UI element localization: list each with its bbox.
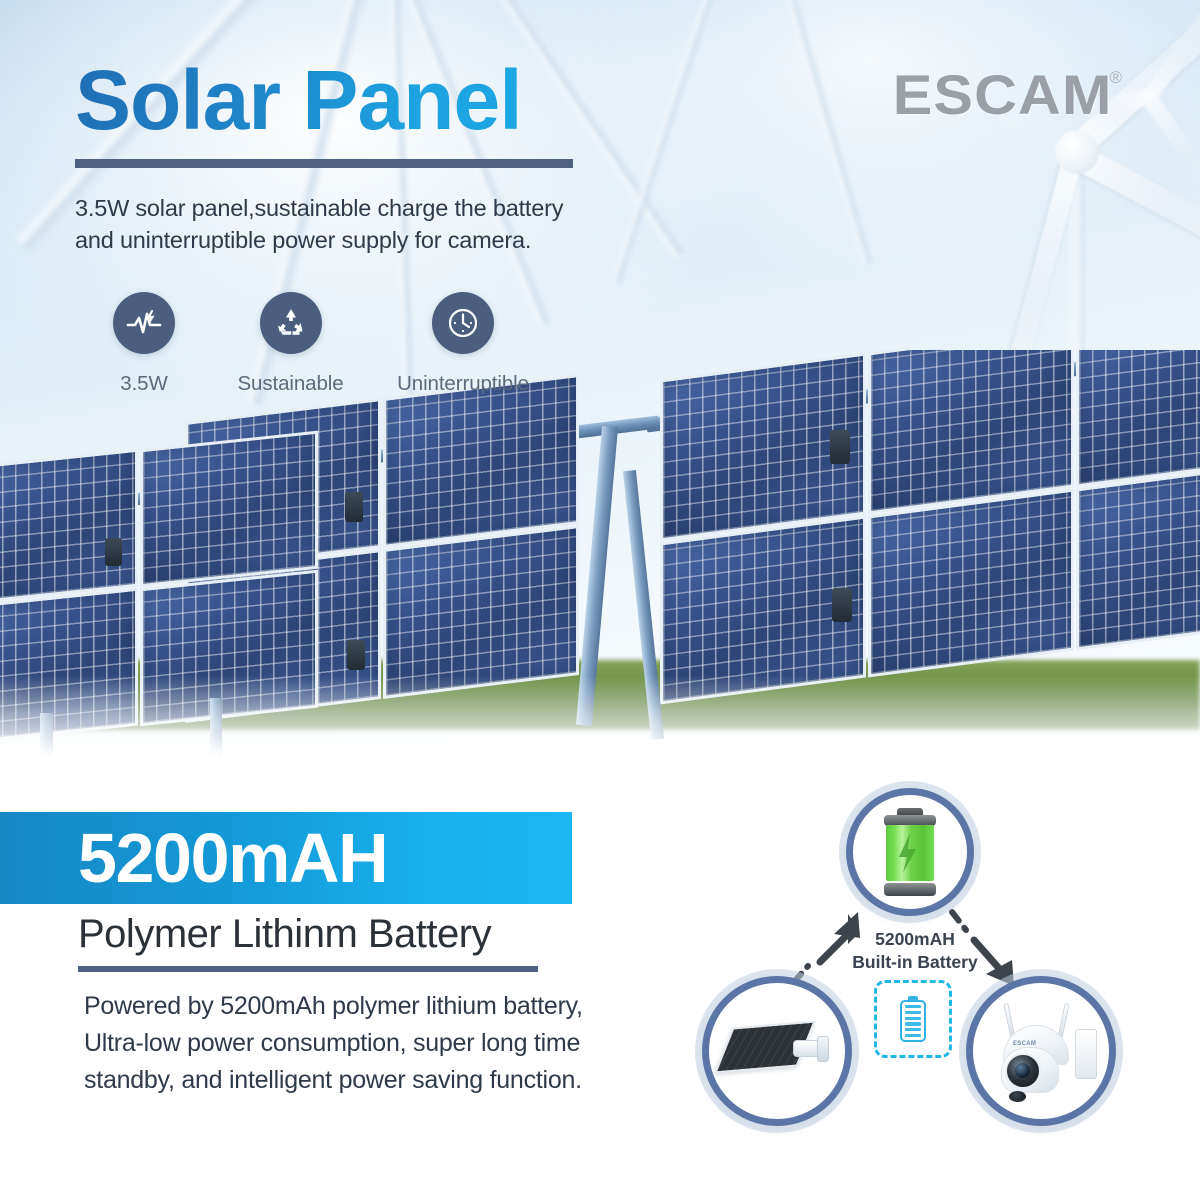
- hero-subtitle-line2: and uninterruptible power supply for cam…: [75, 224, 635, 256]
- solar-farm-photo: [0, 350, 1200, 770]
- feature-label: Sustainable: [237, 372, 343, 396]
- feature-icon-circle: [260, 292, 322, 354]
- diagram-node-camera: ESCAM: [966, 976, 1116, 1126]
- photo-fade-overlay: [0, 675, 1200, 770]
- wind-turbine-secondary-icon: [1085, 20, 1200, 260]
- turbine-blade-icon: [1140, 90, 1200, 222]
- diagram-caption-line2: Built-in Battery: [840, 951, 990, 974]
- battery-description-line1: Powered by 5200mAh polymer lithium batte…: [84, 988, 694, 1025]
- feature-icon-circle: [113, 292, 175, 354]
- power-flow-diagram: 5200mAH Built-in Battery: [690, 780, 1190, 1190]
- hero-subtitle-line1: 3.5W solar panel,sustainable charge the …: [75, 192, 635, 224]
- page-title: Solar Panel: [75, 58, 695, 146]
- battery-subtitle-underline: [78, 966, 538, 972]
- hero-text-block: Solar Panel 3.5W solar panel,sustainable…: [75, 58, 695, 257]
- recycle-icon: [274, 306, 308, 340]
- diagram-node-solar-panel: [702, 976, 852, 1126]
- diagram-caption-line1: 5200mAH: [840, 928, 990, 951]
- battery-subtitle: Polymer Lithinm Battery: [78, 912, 491, 957]
- escam-logo: ESCAM ®: [899, 62, 1122, 127]
- title-underline: [75, 159, 573, 168]
- green-battery-icon: [881, 808, 939, 896]
- diagram-caption: 5200mAH Built-in Battery: [840, 928, 990, 974]
- feature-label: Uninterruptible: [397, 372, 529, 396]
- battery-description: Powered by 5200mAh polymer lithium batte…: [84, 988, 694, 1098]
- ptz-camera-icon: ESCAM: [987, 1003, 1095, 1099]
- feature-label: 3.5W: [120, 372, 167, 396]
- escam-logo-text: ESCAM: [893, 62, 1113, 127]
- battery-bars-icon: [900, 996, 926, 1042]
- battery-description-line2: Ultra-low power consumption, super long …: [84, 1025, 694, 1062]
- feature-item-power: 3.5W: [80, 292, 208, 396]
- diagram-node-battery: [846, 788, 974, 916]
- feature-list: 3.5W Sustainable: [80, 292, 553, 396]
- battery-section: 5200mAH Polymer Lithinm Battery Powered …: [0, 770, 1200, 1200]
- clock-icon: [445, 305, 481, 341]
- feature-icon-circle: [432, 292, 494, 354]
- charging-bolt-icon: [886, 825, 934, 881]
- feature-item-uninterruptible: Uninterruptible: [373, 292, 553, 396]
- power-pulse-icon: [126, 308, 162, 338]
- battery-level-indicator: [874, 980, 952, 1058]
- solar-panel-icon: [725, 1018, 829, 1084]
- feature-item-sustainable: Sustainable: [208, 292, 373, 396]
- hero-section: ESCAM ® Solar Panel 3.5W solar panel,sus…: [0, 0, 1200, 770]
- battery-description-line3: standby, and intelligent power saving fu…: [84, 1062, 694, 1099]
- capacity-banner: 5200mAH: [0, 812, 572, 904]
- capacity-value: 5200mAH: [78, 823, 387, 893]
